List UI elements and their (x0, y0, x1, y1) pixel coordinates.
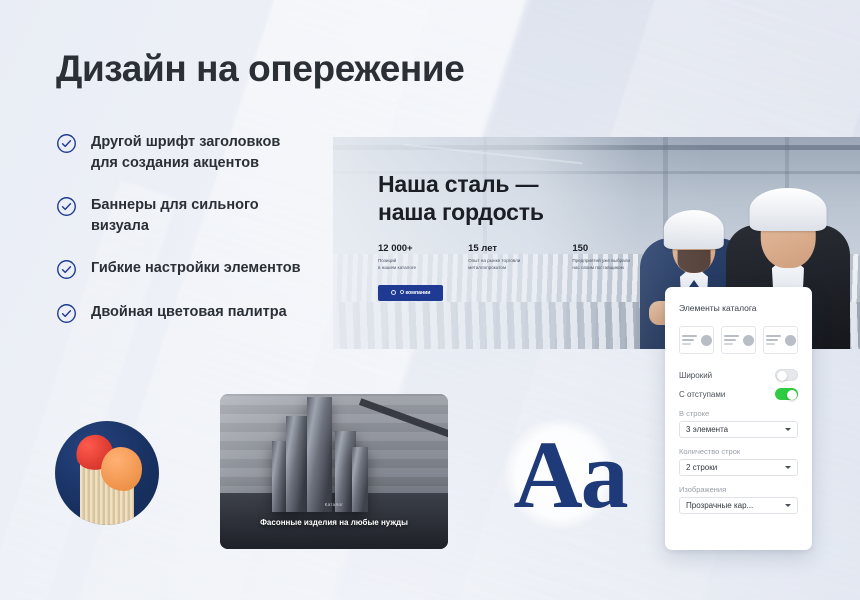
chevron-down-icon (785, 504, 791, 507)
feature-text: Баннеры для сильного визуала (91, 195, 306, 236)
toggle-row-wide: Широкий (679, 369, 798, 381)
list-item: Баннеры для сильного визуала (56, 195, 306, 236)
field-items-per-row: В строке 3 элемента (679, 409, 798, 438)
page-title: Дизайн на опережение (56, 48, 464, 90)
feature-text: Другой шрифт заголовков для создания акц… (91, 132, 306, 173)
field-row-count: Количество строк 2 строки (679, 447, 798, 476)
field-label-items-per-row: В строке (679, 409, 798, 418)
stat-description: Позиций в нашем каталоге (378, 257, 416, 271)
product-card[interactable]: Каталог Фасонные изделия на любые нужды (220, 394, 448, 549)
toggle-knob (787, 390, 797, 400)
orange-match-head (101, 447, 143, 491)
page-root: Дизайн на опережение Другой шрифт заголо… (0, 0, 860, 600)
steel-profile (307, 397, 332, 512)
product-card-caption: Фасонные изделия на любые нужды (220, 518, 448, 527)
select-value-items-per-row: 3 элемента (686, 425, 728, 434)
stat-value: 12 000+ (378, 243, 416, 254)
feature-list: Другой шрифт заголовков для создания акц… (56, 132, 306, 346)
catalog-settings-panel: Элементы каталога Широкий С отступами (665, 287, 812, 550)
panel-title: Элементы каталога (679, 303, 798, 313)
check-circle-icon (56, 259, 77, 280)
select-images[interactable]: Прозрачные кар... (679, 497, 798, 514)
about-company-button-label: О компании (400, 290, 430, 296)
field-label-row-count: Количество строк (679, 447, 798, 456)
navy-circle (55, 421, 159, 525)
banner-stats: 12 000+ Позиций в нашем каталоге 15 лет … (378, 243, 860, 271)
check-circle-icon (56, 303, 77, 324)
stat-description: Предприятий уже выбрали нас своим постав… (572, 257, 630, 271)
toggle-label-wide: Широкий (679, 371, 712, 380)
layout-thumb-2[interactable] (721, 326, 756, 354)
steel-profile (286, 416, 307, 512)
layout-thumb-1[interactable] (679, 326, 714, 354)
circle-image-icon (785, 335, 796, 346)
circle-image-icon (701, 335, 712, 346)
stat-item: 150 Предприятий уже выбрали нас своим по… (572, 243, 630, 271)
banner-headline: Наша сталь — наша гордость (378, 171, 860, 227)
stat-item: 12 000+ Позиций в нашем каталоге (378, 243, 416, 271)
select-row-count[interactable]: 2 строки (679, 459, 798, 476)
text-lines-icon (724, 335, 739, 345)
bullet-icon (391, 290, 396, 295)
layout-thumb-3[interactable] (763, 326, 798, 354)
list-item: Другой шрифт заголовков для создания акц… (56, 132, 306, 173)
stat-description: Опыт на рынке торговли металлопрокатом (468, 257, 520, 271)
chevron-down-icon (785, 466, 791, 469)
toggle-row-padding: С отступами (679, 388, 798, 400)
field-images: Изображения Прозрачные кар... (679, 485, 798, 514)
feature-text: Гибкие настройки элементов (91, 258, 301, 279)
field-label-images: Изображения (679, 485, 798, 494)
text-lines-icon (766, 335, 781, 345)
product-card-label: Каталог (220, 502, 448, 507)
typography-showcase: Aa (478, 408, 662, 542)
stat-item: 15 лет Опыт на рынке торговли металлопро… (468, 243, 520, 271)
typography-glyph: Aa (478, 408, 662, 542)
feature-text: Двойная цветовая палитра (91, 302, 287, 323)
about-company-button[interactable]: О компании (378, 285, 443, 301)
check-circle-icon (56, 133, 77, 154)
select-value-images: Прозрачные кар... (686, 501, 753, 510)
text-lines-icon (682, 335, 697, 345)
circle-image-icon (743, 335, 754, 346)
list-item: Двойная цветовая палитра (56, 302, 306, 324)
select-items-per-row[interactable]: 3 элемента (679, 421, 798, 438)
toggle-label-padding: С отступами (679, 390, 725, 399)
toggle-padding[interactable] (775, 388, 798, 400)
select-value-row-count: 2 строки (686, 463, 717, 472)
check-circle-icon (56, 196, 77, 217)
stat-value: 15 лет (468, 243, 520, 254)
toggle-knob (777, 371, 787, 381)
layout-thumbnail-group (679, 326, 798, 354)
banner-content: Наша сталь — наша гордость 12 000+ Позиц… (378, 171, 860, 301)
toggle-wide[interactable] (775, 369, 798, 381)
stat-value: 150 (572, 243, 630, 254)
list-item: Гибкие настройки элементов (56, 258, 306, 280)
chevron-down-icon (785, 428, 791, 431)
color-palette-image (55, 421, 159, 525)
